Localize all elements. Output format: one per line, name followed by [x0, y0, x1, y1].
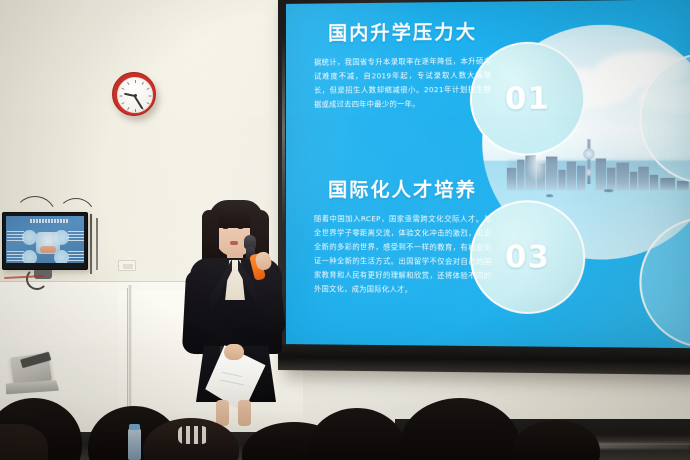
- tower-sphere-upper: [583, 149, 594, 160]
- clock-center-dot: [134, 94, 137, 97]
- display-screen[interactable]: 01 03 国内升学压力大 据统计，我国省专升本录取率在逐年降低，本升硕考试难度…: [286, 0, 690, 348]
- small-wall-monitor: [2, 212, 88, 270]
- cable-vertical: [90, 214, 92, 274]
- wall-clock: [112, 72, 156, 116]
- presenter-arm-left: [182, 269, 212, 354]
- monitor-circle-1: [22, 230, 37, 245]
- slide-section-1: 国内升学压力大 据统计，我国省专升本录取率在逐年降低，本升硕考试难度不减，自20…: [314, 22, 491, 112]
- monitor-circle-3: [22, 250, 37, 263]
- monitor-text-2: [68, 229, 84, 241]
- monitor-screen: [6, 216, 84, 263]
- presentation-slide: 01 03 国内升学压力大 据统计，我国省专升本录取率在逐年降低，本升硕考试难度…: [286, 0, 690, 348]
- clock-face: [117, 77, 153, 113]
- water-bottle: [128, 428, 141, 460]
- slide-title-1: 国内升学压力大: [314, 22, 491, 45]
- cable-coil: [26, 268, 48, 290]
- boat: [604, 189, 613, 192]
- slide-body-2: 随着中国加入RCEP，国家亟需跨文化交际人才。与全世界学子零距离交流，体验文化冲…: [314, 212, 491, 298]
- display-bottom-bezel: [278, 344, 690, 375]
- water-bottle-cap: [129, 424, 140, 430]
- presenter-leg-left: [216, 400, 229, 426]
- slide-title-2: 国际化人才培养: [314, 180, 491, 201]
- monitor-center-accent: [40, 246, 56, 253]
- hair-clip: [178, 426, 208, 444]
- presenter-leg-right: [238, 400, 251, 426]
- boat: [546, 194, 553, 197]
- monitor-text-1: [7, 229, 24, 241]
- presenter-woman: [176, 196, 302, 424]
- monitor-text-3: [7, 249, 24, 261]
- presenter-mouth: [230, 241, 238, 245]
- laptop-base: [6, 380, 59, 394]
- number-label-01: 01: [505, 81, 550, 117]
- wall-display[interactable]: 01 03 国内升学压力大 据统计，我国省专升本录取率在逐年降低，本升硕考试难度…: [278, 0, 690, 375]
- cable-vertical-2: [96, 218, 98, 270]
- open-laptop: [6, 355, 58, 399]
- laptop-screen: [20, 352, 51, 369]
- monitor-title-bar: [30, 219, 68, 223]
- number-label-03: 03: [505, 239, 550, 275]
- slide-body-1: 据统计，我国省专升本录取率在逐年降低，本升硕考试难度不减，自2019年起，专试录…: [314, 54, 491, 112]
- screenshot-root: 01 03 国内升学压力大 据统计，我国省专升本录取率在逐年降低，本升硕考试难度…: [0, 0, 690, 460]
- presenter-hand-left: [224, 344, 244, 360]
- monitor-text-4: [68, 249, 84, 261]
- wall-outlet: [118, 260, 136, 271]
- slide-section-2: 国际化人才培养 随着中国加入RCEP，国家亟需跨文化交际人才。与全世界学子零距离…: [314, 180, 491, 298]
